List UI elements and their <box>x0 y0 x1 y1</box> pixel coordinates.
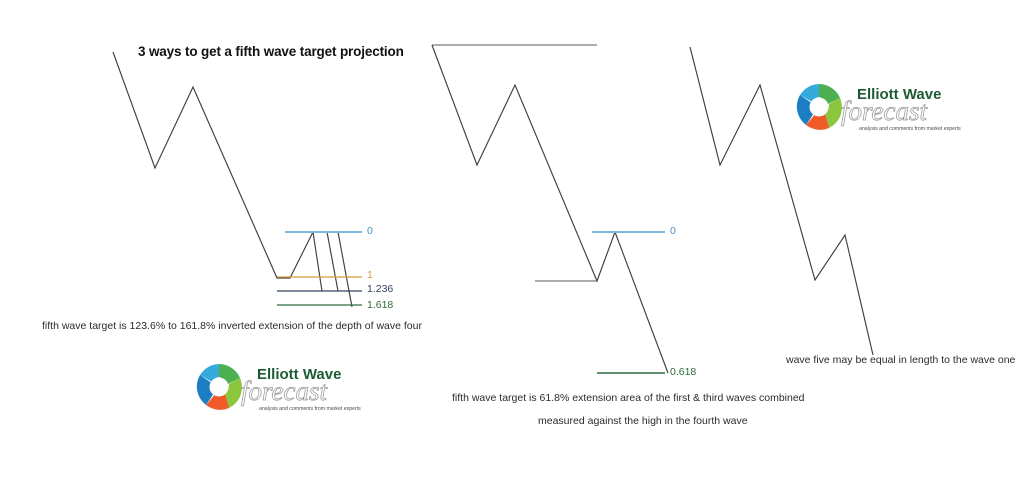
chart-left-level-1236-label: 1.236 <box>367 283 393 295</box>
page-title: 3 ways to get a fifth wave target projec… <box>138 44 404 59</box>
chart-left-projection-1 <box>313 232 322 291</box>
chart-left-projection-3 <box>338 232 352 307</box>
caption-right-chart: wave five may be equal in length to the … <box>786 354 1015 366</box>
logo-swirl-icon <box>196 364 242 410</box>
chart-middle-level-0618-label: 0.618 <box>670 366 696 378</box>
elliott-wave-forecast-logo-bottom: Elliott Wave forecast analysis and comme… <box>193 360 361 418</box>
logo-svg-bottom: Elliott Wave forecast analysis and comme… <box>193 360 361 418</box>
chart-left-level-0-label: 0 <box>367 225 373 237</box>
logo-script-text: forecast <box>841 96 928 126</box>
chart-middle-group <box>432 45 668 373</box>
logo-tagline-text: analysis and comments from market expert… <box>859 126 961 132</box>
elliott-wave-forecast-logo-top: Elliott Wave forecast analysis and comme… <box>793 80 961 138</box>
caption-middle-chart-line-1: fifth wave target is 61.8% extension are… <box>452 392 805 404</box>
logo-swirl-icon <box>796 84 842 130</box>
elliott-wave-diagram-svg <box>0 0 1024 488</box>
logo-svg-top: Elliott Wave forecast analysis and comme… <box>793 80 961 138</box>
chart-left-projection-2 <box>327 232 338 291</box>
chart-middle-level-0-label: 0 <box>670 225 676 237</box>
diagram-canvas: 3 ways to get a fifth wave target projec… <box>0 0 1024 488</box>
logo-script-text: forecast <box>241 376 328 406</box>
caption-middle-chart-line-2: measured against the high in the fourth … <box>538 415 748 427</box>
caption-left-chart: fifth wave target is 123.6% to 161.8% in… <box>42 320 422 332</box>
chart-left-group <box>113 52 362 307</box>
chart-left-level-1618-label: 1.618 <box>367 299 393 311</box>
chart-left-wave-path <box>113 52 313 278</box>
chart-middle-wave-path <box>432 45 668 373</box>
logo-tagline-text: analysis and comments from market expert… <box>259 406 361 412</box>
chart-left-level-1-label: 1 <box>367 269 373 281</box>
